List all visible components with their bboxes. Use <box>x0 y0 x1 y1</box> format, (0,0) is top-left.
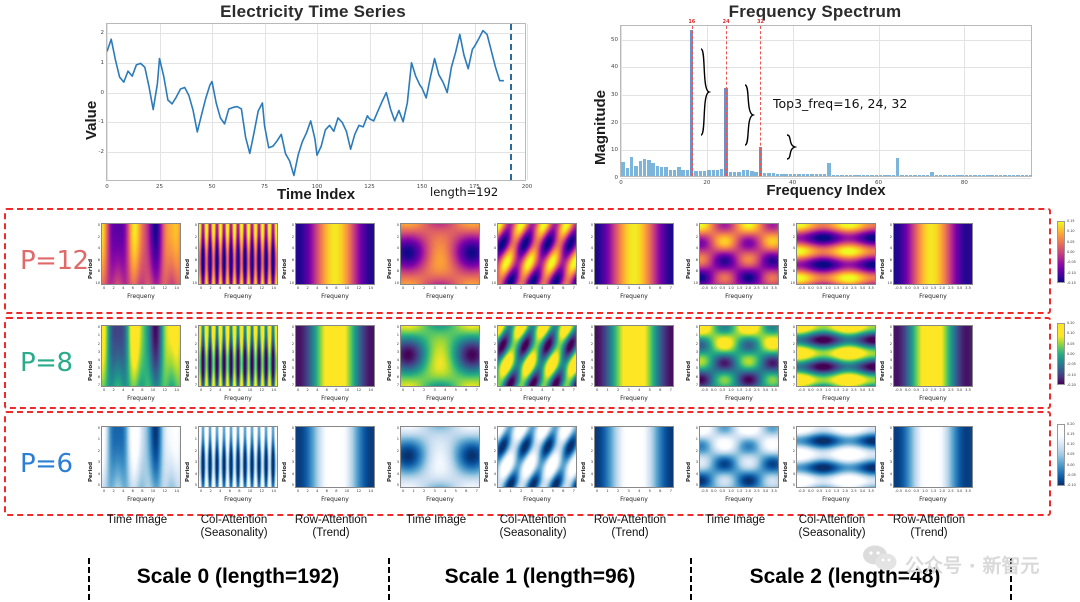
heatmap-xticks: -0.50.00.51.01.52.02.53.03.5 <box>699 286 779 290</box>
spectrum-ytick: 50 <box>605 37 618 43</box>
scale-row-p6: P=6012345Period02468101214Frequeny012345… <box>4 411 1051 516</box>
spectrum-peak-label: 16 <box>688 19 695 25</box>
spectrum-ytick: 0 <box>605 175 618 181</box>
colorbar <box>1057 221 1065 283</box>
heatmap-cell: 01234567Period02468101214Frequeny <box>101 325 181 407</box>
spectrum-bar <box>737 172 740 176</box>
heatmap-xlabel: Frequeny <box>594 293 674 300</box>
heatmap-cell: 012345Period-0.50.00.51.01.52.02.53.03.5… <box>796 426 876 508</box>
heatmap-cell: 0246810Period-0.50.00.51.01.52.02.53.03.… <box>796 223 876 305</box>
heatmap-xlabel: Frequeny <box>796 395 876 402</box>
spectrum-bar <box>1012 175 1015 176</box>
spectrum-bar <box>853 175 856 176</box>
top3-freq-annotation: Top3_freq=16, 24, 32 <box>773 96 907 111</box>
spectrum-bar <box>952 175 955 176</box>
timeseries-ylabel: Value <box>83 101 100 140</box>
heatmap-cell: 01234567Period02468101214Frequeny <box>198 325 278 407</box>
heatmap-ylabel: Period <box>581 361 587 381</box>
heatmap-image <box>497 426 577 488</box>
heatmap-xticks: 02468101214 <box>198 489 278 493</box>
heatmap-ylabel: Period <box>484 259 490 279</box>
heatmap-xlabel: Frequeny <box>699 496 779 503</box>
spectrum-bar <box>866 175 869 176</box>
heatmap-ylabel: Period <box>484 461 490 481</box>
heatmap-xticks: -0.50.00.51.01.52.02.53.03.5 <box>796 489 876 493</box>
timeseries-line <box>107 24 527 182</box>
period-label: P=6 <box>20 449 73 479</box>
spectrum-peak-marker <box>760 26 761 176</box>
spectrum-peak-label: 32 <box>757 19 764 25</box>
heatmap-xticks: 02468101214 <box>198 286 278 290</box>
spectrum-bar <box>733 172 736 176</box>
spectrum-bar <box>815 174 818 176</box>
heatmap-cell: 012345Period-0.50.00.51.01.52.02.53.03.5… <box>893 426 973 508</box>
heatmap-image <box>699 223 779 285</box>
spectrum-bar <box>913 175 916 176</box>
spectrum-peak-label: 24 <box>723 19 730 25</box>
heatmap-xticks: -0.50.00.51.01.52.02.53.03.5 <box>893 388 973 392</box>
column-caption-line2: (Trend) <box>267 527 395 540</box>
heatmap-ylabel: Period <box>686 461 692 481</box>
spectrum-bar <box>965 175 968 176</box>
spectrum-bar <box>862 175 865 176</box>
heatmap-image <box>796 223 876 285</box>
heatmap-xticks: 01234567 <box>594 286 674 290</box>
heatmap-xlabel: Frequeny <box>893 395 973 402</box>
electricity-time-series-plot: Electricity Time Series 0255075100125150… <box>88 0 538 205</box>
spectrum-bar <box>763 173 766 176</box>
colorbar <box>1057 323 1065 385</box>
heatmap-xticks: -0.50.00.51.01.52.02.53.03.5 <box>796 286 876 290</box>
spectrum-title: Frequency Spectrum <box>580 2 1050 22</box>
spectrum-bar <box>840 175 843 176</box>
heatmap-ylabel: Period <box>185 461 191 481</box>
heatmap-xlabel: Frequeny <box>796 293 876 300</box>
heatmap-xticks: 01234567 <box>400 286 480 290</box>
frequency-spectrum-plot: Frequency Spectrum 020406080010203040501… <box>580 0 1050 205</box>
spectrum-bar <box>634 166 637 176</box>
spectrum-bar <box>969 175 972 176</box>
heatmap-ylabel: Period <box>484 361 490 381</box>
heatmap-xlabel: Frequeny <box>295 293 375 300</box>
heatmap-image <box>699 325 779 387</box>
heatmap-xticks: 01234567 <box>497 388 577 392</box>
spectrum-bar <box>686 170 689 176</box>
spectrum-bar <box>669 170 672 176</box>
spectrum-bar <box>673 170 676 176</box>
heatmap-xticks: -0.50.00.51.01.52.02.53.03.5 <box>796 388 876 392</box>
heatmap-cell: 0246810Period02468101214Frequeny <box>101 223 181 305</box>
spectrum-ylabel: Magnitude <box>592 90 609 165</box>
heatmap-image <box>796 325 876 387</box>
spectrum-bar <box>694 171 697 176</box>
spectrum-xlabel: Frequency Index <box>620 182 1032 199</box>
heatmap-xticks: 02468101214 <box>198 388 278 392</box>
heatmap-image <box>295 223 375 285</box>
heatmap-cell: 012345Period01234567Frequeny <box>400 426 480 508</box>
colorbar-ticks: 0.200.100.050.00-0.05-0.10-0.20 <box>1067 321 1076 387</box>
scale-divider <box>88 558 90 600</box>
heatmap-cell: 01234567Period01234567Frequeny <box>497 325 577 407</box>
heatmap-xlabel: Frequeny <box>198 293 278 300</box>
watermark-text: 公众号 · 新智元 <box>905 551 1039 578</box>
heatmap-image <box>893 426 973 488</box>
heatmap-image <box>497 223 577 285</box>
heatmap-image <box>594 426 674 488</box>
spectrum-bar <box>664 167 667 176</box>
spectrum-bar <box>930 172 933 176</box>
heatmap-ylabel: Period <box>783 259 789 279</box>
spectrum-bar <box>1003 175 1006 176</box>
heatmap-cell: 01234567Period-0.50.00.51.01.52.02.53.03… <box>699 325 779 407</box>
spectrum-bar <box>879 175 882 176</box>
spectrum-peak-marker <box>726 26 727 176</box>
spectrum-bar <box>699 171 702 176</box>
column-caption-line1: Row-Attention <box>865 514 993 527</box>
spectrum-bar <box>647 160 650 176</box>
spectrum-bar <box>857 175 860 176</box>
spectrum-bar <box>918 175 921 176</box>
heatmap-xlabel: Frequeny <box>198 496 278 503</box>
spectrum-bar <box>948 175 951 176</box>
spectrum-bar <box>789 174 792 176</box>
heatmap-xlabel: Frequeny <box>796 496 876 503</box>
timeseries-ytick: 0 <box>91 90 104 96</box>
spectrum-bar <box>720 169 723 176</box>
heatmap-image <box>101 223 181 285</box>
heatmap-cell: 012345Period01234567Frequeny <box>594 426 674 508</box>
spectrum-bar <box>1025 175 1028 176</box>
scale-row-p12: P=120246810Period02468101214Frequeny0246… <box>4 208 1051 314</box>
heatmap-xlabel: Frequeny <box>101 395 181 402</box>
heatmap-image <box>295 325 375 387</box>
scale-caption: Scale 1 (length=96) <box>390 565 690 589</box>
heatmap-xlabel: Frequeny <box>101 496 181 503</box>
heatmap-cell: 012345Period01234567Frequeny <box>497 426 577 508</box>
heatmap-xticks: 02468101214 <box>101 286 181 290</box>
spectrum-bar <box>767 173 770 176</box>
spectrum-bar <box>823 174 826 176</box>
spectrum-bar <box>810 174 813 176</box>
spectrum-bar <box>926 175 929 176</box>
heatmap-ylabel: Period <box>185 361 191 381</box>
spectrum-bar <box>793 174 796 176</box>
spectrum-bar <box>922 175 925 176</box>
heatmap-xticks: 02468101214 <box>295 388 375 392</box>
spectrum-bar <box>849 175 852 176</box>
heatmap-ylabel: Period <box>581 259 587 279</box>
heatmap-image <box>101 426 181 488</box>
spectrum-bar <box>797 174 800 176</box>
heatmap-xticks: -0.50.00.51.01.52.02.53.03.5 <box>893 489 973 493</box>
colorbar-ticks: 0.200.150.100.050.00-0.05-0.10 <box>1067 422 1076 488</box>
heatmap-cell: 0246810Period-0.50.00.51.01.52.02.53.03.… <box>893 223 973 305</box>
heatmap-xlabel: Frequeny <box>295 395 375 402</box>
heatmap-image <box>594 325 674 387</box>
spectrum-bar <box>905 175 908 176</box>
heatmap-xlabel: Frequeny <box>893 293 973 300</box>
timeseries-axes: 0255075100125150175200210-1-2 <box>106 23 526 181</box>
spectrum-bar <box>780 174 783 176</box>
heatmap-cell: 012345Period02468101214Frequeny <box>295 426 375 508</box>
spectrum-bar <box>887 175 890 176</box>
spectrum-bar <box>707 170 710 176</box>
heatmap-ylabel: Period <box>783 461 789 481</box>
spectrum-bar <box>716 170 719 176</box>
heatmap-ylabel: Period <box>282 259 288 279</box>
spectrum-bar <box>746 170 749 176</box>
heatmap-xticks: 02468101214 <box>295 489 375 493</box>
spectrum-ytick: 40 <box>605 64 618 70</box>
spectrum-bar <box>892 175 895 176</box>
spectrum-bar <box>827 163 830 176</box>
heatmap-xlabel: Frequeny <box>400 395 480 402</box>
heatmap-ylabel: Period <box>880 461 886 481</box>
spectrum-bar <box>990 175 993 176</box>
heatmap-cell: 012345Period-0.50.00.51.01.52.02.53.03.5… <box>699 426 779 508</box>
spectrum-bar <box>960 175 963 176</box>
heatmap-cell: 01234567Period-0.50.00.51.01.52.02.53.03… <box>893 325 973 407</box>
spectrum-bar <box>870 175 873 176</box>
spectrum-bar <box>784 174 787 176</box>
heatmap-xticks: 01234567 <box>594 388 674 392</box>
spectrum-bar <box>883 175 886 176</box>
heatmap-cell: 01234567Period01234567Frequeny <box>594 325 674 407</box>
spectrum-bar <box>999 175 1002 176</box>
heatmap-image <box>497 325 577 387</box>
period-label: P=12 <box>20 246 89 276</box>
spectrum-bar <box>643 159 646 176</box>
heatmap-xticks: -0.50.00.51.01.52.02.53.03.5 <box>699 489 779 493</box>
spectrum-bar <box>935 175 938 176</box>
colorbar <box>1057 424 1065 486</box>
spectrum-bar <box>982 175 985 176</box>
heatmap-xticks: -0.50.00.51.01.52.02.53.03.5 <box>893 286 973 290</box>
spectrum-bar <box>896 158 899 176</box>
heatmap-xticks: 02468101214 <box>295 286 375 290</box>
heatmap-ylabel: Period <box>88 361 94 381</box>
heatmap-xticks: 01234567 <box>497 286 577 290</box>
heatmap-ylabel: Period <box>387 461 393 481</box>
heatmap-xlabel: Frequeny <box>699 293 779 300</box>
spectrum-bar <box>1016 175 1019 176</box>
peak-brace <box>699 48 711 136</box>
spectrum-bar <box>875 175 878 176</box>
spectrum-bar <box>656 166 659 176</box>
heatmap-cell: 01234567Period01234567Frequeny <box>400 325 480 407</box>
spectrum-bar <box>956 175 959 176</box>
heatmap-cell: 0246810Period01234567Frequeny <box>594 223 674 305</box>
timeseries-ytick: 2 <box>91 30 104 36</box>
column-caption-line2: (Trend) <box>865 527 993 540</box>
spectrum-bar <box>681 170 684 176</box>
scale-caption: Scale 0 (length=192) <box>88 565 388 589</box>
spectrum-bar <box>832 175 835 176</box>
spectrum-bar <box>986 175 989 176</box>
spectrum-bar <box>995 175 998 176</box>
spectrum-bar <box>776 174 779 176</box>
spectrum-bar <box>750 171 753 176</box>
scale-divider <box>388 558 390 600</box>
spectrum-bar <box>621 162 624 176</box>
heatmap-image <box>295 426 375 488</box>
peak-brace <box>785 134 797 160</box>
top-plots: Electricity Time Series 0255075100125150… <box>0 0 1080 205</box>
heatmap-image <box>893 223 973 285</box>
heatmap-cell: 0246810Period-0.50.00.51.01.52.02.53.03.… <box>699 223 779 305</box>
spectrum-bar <box>1021 175 1024 176</box>
heatmap-image <box>796 426 876 488</box>
period-label: P=8 <box>20 348 73 378</box>
wechat-logo-icon <box>862 545 898 576</box>
column-caption-line2: (Trend) <box>566 527 694 540</box>
heatmap-ylabel: Period <box>581 461 587 481</box>
spectrum-bar <box>712 170 715 176</box>
heatmap-ylabel: Period <box>387 361 393 381</box>
heatmap-xticks: 01234567 <box>400 388 480 392</box>
heatmap-image <box>594 223 674 285</box>
heatmap-image <box>400 325 480 387</box>
spectrum-bar <box>742 170 745 176</box>
spectrum-bar <box>806 174 809 176</box>
spectrum-bar <box>836 175 839 176</box>
heatmap-xlabel: Frequeny <box>699 395 779 402</box>
spectrum-bar <box>626 168 629 176</box>
spectrum-bar <box>943 175 946 176</box>
heatmap-image <box>893 325 973 387</box>
timeseries-length-annotation: length=192 <box>430 185 498 199</box>
spectrum-bar <box>677 167 680 176</box>
heatmap-xlabel: Frequeny <box>497 496 577 503</box>
heatmap-ylabel: Period <box>387 259 393 279</box>
timeseries-ytick: -2 <box>91 149 104 155</box>
spectrum-bar <box>819 174 822 176</box>
spectrum-bar <box>1008 175 1011 176</box>
heatmap-image <box>198 426 278 488</box>
heatmap-xticks: -0.50.00.51.01.52.02.53.03.5 <box>699 388 779 392</box>
heatmap-xlabel: Frequeny <box>295 496 375 503</box>
heatmap-image <box>198 325 278 387</box>
column-caption: Row-Attention(Trend) <box>865 514 993 540</box>
spectrum-bar <box>729 172 732 176</box>
heatmap-cell: 0246810Period02468101214Frequeny <box>295 223 375 305</box>
heatmap-cell: 012345Period02468101214Frequeny <box>198 426 278 508</box>
heatmap-cell: 0246810Period02468101214Frequeny <box>198 223 278 305</box>
heatmap-ylabel: Period <box>880 259 886 279</box>
heatmap-cell: 0246810Period01234567Frequeny <box>400 223 480 305</box>
spectrum-bar <box>978 175 981 176</box>
heatmap-cell: 01234567Period02468101214Frequeny <box>295 325 375 407</box>
scale-divider <box>690 558 692 600</box>
heatmap-ylabel: Period <box>282 461 288 481</box>
spectrum-bar <box>651 163 654 176</box>
timeseries-cut-line <box>510 24 512 180</box>
spectrum-bar <box>802 174 805 176</box>
heatmap-image <box>198 223 278 285</box>
heatmap-xlabel: Frequeny <box>497 293 577 300</box>
heatmap-xticks: 02468101214 <box>101 489 181 493</box>
spectrum-bar <box>772 173 775 176</box>
heatmap-cell: 0246810Period01234567Frequeny <box>497 223 577 305</box>
heatmap-xticks: 01234567 <box>400 489 480 493</box>
heatmap-xticks: 02468101214 <box>101 388 181 392</box>
timeseries-ytick: 1 <box>91 60 104 66</box>
spectrum-bar <box>939 175 942 176</box>
heatmap-ylabel: Period <box>783 361 789 381</box>
heatmap-cell: 01234567Period-0.50.00.51.01.52.02.53.03… <box>796 325 876 407</box>
spectrum-bar <box>754 172 757 176</box>
heatmap-xlabel: Frequeny <box>400 496 480 503</box>
spectrum-peak-marker <box>692 26 693 176</box>
heatmap-image <box>400 223 480 285</box>
heatmap-image <box>699 426 779 488</box>
heatmap-xticks: 01234567 <box>497 489 577 493</box>
spectrum-bar <box>909 175 912 176</box>
spectrum-bar <box>703 171 706 176</box>
heatmap-xlabel: Frequeny <box>400 293 480 300</box>
peak-brace <box>743 84 755 146</box>
heatmap-xlabel: Frequeny <box>101 293 181 300</box>
spectrum-bar <box>845 175 848 176</box>
heatmap-ylabel: Period <box>282 361 288 381</box>
spectrum-bar <box>1029 175 1032 176</box>
heatmap-cell: 012345Period02468101214Frequeny <box>101 426 181 508</box>
spectrum-bar <box>639 161 642 176</box>
spectrum-bar <box>660 167 663 176</box>
scale-row-p8: P=801234567Period02468101214Frequeny0123… <box>4 317 1051 409</box>
heatmap-xlabel: Frequeny <box>198 395 278 402</box>
heatmap-xlabel: Frequeny <box>594 496 674 503</box>
heatmap-xticks: 01234567 <box>594 489 674 493</box>
timeseries-title: Electricity Time Series <box>88 2 538 22</box>
spectrum-bar <box>900 175 903 176</box>
heatmap-ylabel: Period <box>185 259 191 279</box>
heatmap-ylabel: Period <box>88 461 94 481</box>
heatmap-xlabel: Frequeny <box>594 395 674 402</box>
spectrum-bar <box>630 157 633 176</box>
colorbar-ticks: 0.150.100.050.00-0.05-0.10-0.15 <box>1067 219 1076 285</box>
heatmap-image <box>400 426 480 488</box>
heatmap-ylabel: Period <box>686 361 692 381</box>
spectrum-bar <box>973 175 976 176</box>
heatmap-ylabel: Period <box>686 259 692 279</box>
heatmap-xlabel: Frequeny <box>497 395 577 402</box>
heatmap-image <box>101 325 181 387</box>
heatmap-xlabel: Frequeny <box>893 496 973 503</box>
heatmap-ylabel: Period <box>880 361 886 381</box>
heatmap-ylabel: Period <box>88 259 94 279</box>
